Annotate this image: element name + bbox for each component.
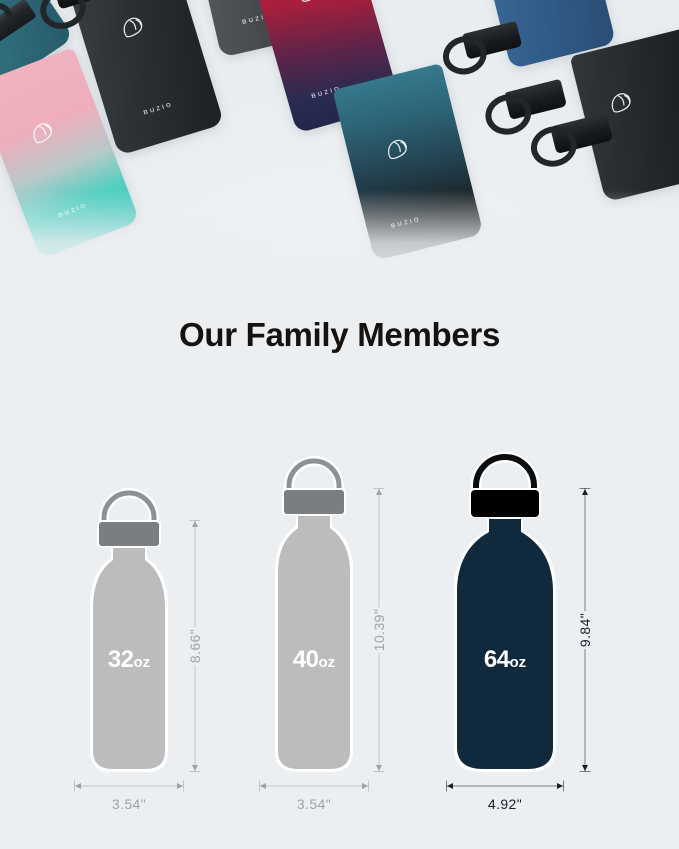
width-value-40oz: 3.54" xyxy=(297,796,331,812)
dimension-arrow-bottom xyxy=(376,765,382,771)
dimension-arrow-right xyxy=(362,783,368,789)
dimension-arrow-right xyxy=(557,783,563,789)
dimension-tick-right xyxy=(368,781,369,792)
dimension-tick-bottom xyxy=(580,771,591,772)
bottle-illustration-32oz[interactable] xyxy=(78,490,180,778)
dimension-arrow-bottom xyxy=(582,765,588,771)
height-value-64oz: 9.84" xyxy=(574,611,596,649)
capacity-unit: oz xyxy=(319,654,336,671)
width-dimension-40oz: 3.54" xyxy=(259,778,369,794)
dimension-tick-right xyxy=(183,781,184,792)
capacity-unit: oz xyxy=(510,654,527,671)
dimension-tick-bottom xyxy=(374,771,385,772)
capacity-unit: oz xyxy=(134,654,151,671)
height-value-32oz: 8.66" xyxy=(184,627,206,665)
capacity-label-64oz: 64oz xyxy=(438,648,572,672)
dimension-arrow-left xyxy=(447,783,453,789)
size-comparison-diagram: 32oz 8.66" 3.54" xyxy=(0,440,679,849)
width-dimension-64oz: 4.92" xyxy=(446,778,564,794)
height-dimension-40oz: 10.39" xyxy=(366,488,392,772)
height-dimension-32oz: 8.66" xyxy=(182,520,208,772)
capacity-number: 40 xyxy=(293,646,319,673)
infographic-page: BUZIO BUZIO BUZIO BUZIO xyxy=(0,0,679,849)
dimension-arrow-bottom xyxy=(192,765,198,771)
dimension-tick-right xyxy=(563,781,564,792)
dimension-arrow-left xyxy=(260,783,266,789)
dimension-arrow-top xyxy=(192,521,198,527)
dimension-line xyxy=(74,786,184,787)
page-title: Our Family Members xyxy=(0,316,679,354)
dimension-arrow-top xyxy=(376,489,382,495)
bottle-illustration-64oz[interactable] xyxy=(438,458,572,778)
dimension-arrow-left xyxy=(75,783,81,789)
height-dimension-64oz: 9.84" xyxy=(572,488,598,772)
capacity-number: 32 xyxy=(108,646,134,673)
photo-bottom-fade xyxy=(0,190,679,286)
product-photo-banner: BUZIO BUZIO BUZIO BUZIO xyxy=(0,0,679,286)
dimension-arrow-top xyxy=(582,489,588,495)
dimension-line xyxy=(446,786,564,787)
dimension-tick-bottom xyxy=(190,771,201,772)
bottle-illustration-40oz[interactable] xyxy=(264,458,364,778)
height-value-40oz: 10.39" xyxy=(368,607,390,653)
dimension-line xyxy=(259,786,369,787)
width-dimension-32oz: 3.54" xyxy=(74,778,184,794)
width-value-32oz: 3.54" xyxy=(112,796,146,812)
width-value-64oz: 4.92" xyxy=(488,796,522,812)
capacity-label-40oz: 40oz xyxy=(264,648,364,672)
dimension-arrow-right xyxy=(177,783,183,789)
capacity-number: 64 xyxy=(484,646,510,673)
capacity-label-32oz: 32oz xyxy=(78,648,180,672)
